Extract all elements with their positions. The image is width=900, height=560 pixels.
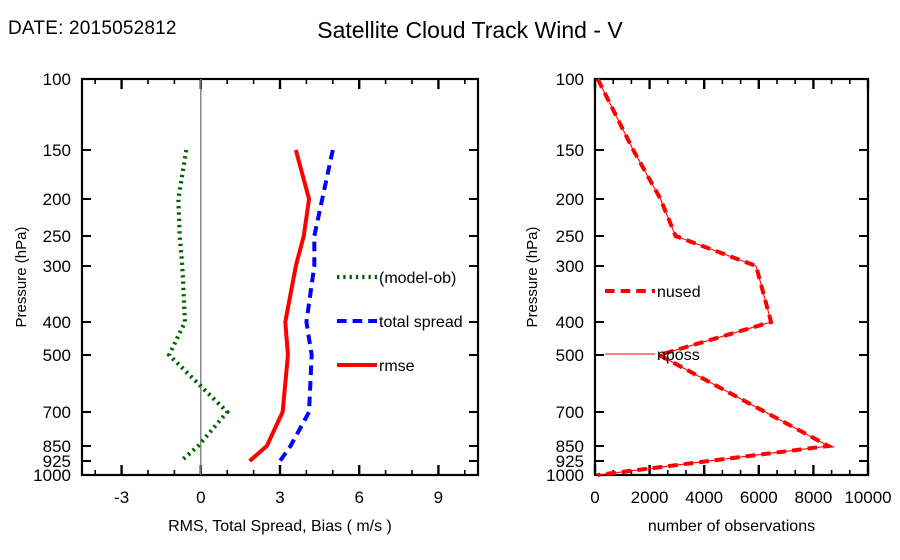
x-tick-label: 0 (196, 488, 205, 507)
y-tick-label: 300 (43, 257, 71, 276)
y-tick-label: 1000 (33, 466, 71, 485)
x-tick-label: -3 (114, 488, 129, 507)
x-tick-label: 10000 (844, 488, 891, 507)
x-tick-label: 0 (590, 488, 599, 507)
y-tick-label: 150 (556, 141, 584, 160)
legend-label: nposs (657, 347, 700, 364)
y-tick-label: 100 (556, 70, 584, 89)
legend-label: rmse (379, 358, 415, 375)
x-tick-label: 8000 (794, 488, 832, 507)
y-tick-label: 500 (556, 346, 584, 365)
legend-label: (model-ob) (379, 270, 456, 287)
chart-root: DATE: 2015052812 Satellite Cloud Track W… (0, 0, 900, 560)
y-tick-label: 250 (43, 227, 71, 246)
x-tick-label: 9 (434, 488, 443, 507)
left-panel: 1001502002503004005007008509251000-30369… (0, 0, 500, 560)
plot-frame (595, 79, 868, 475)
x-axis-title: number of observations (648, 518, 815, 535)
right-panel: 1001502002503004005007008509251000020004… (450, 0, 900, 560)
series-nposs (598, 79, 829, 475)
x-axis-title: RMS, Total Spread, Bias ( m/s ) (168, 518, 392, 535)
y-tick-label: 400 (556, 313, 584, 332)
y-axis-title: Pressure (hPa) (524, 227, 541, 328)
y-tick-label: 200 (43, 190, 71, 209)
y-tick-label: 200 (556, 190, 584, 209)
y-axis-title: Pressure (hPa) (13, 227, 30, 328)
y-tick-label: 700 (43, 403, 71, 422)
y-tick-label: 100 (43, 70, 71, 89)
legend-label: nused (657, 284, 701, 301)
y-tick-label: 300 (556, 257, 584, 276)
left-plot-svg: 1001502002503004005007008509251000-30369… (0, 0, 500, 560)
x-tick-label: 4000 (685, 488, 723, 507)
y-tick-label: 150 (43, 141, 71, 160)
series-rmse (250, 150, 309, 461)
series-nused (598, 79, 829, 475)
x-tick-label: 3 (275, 488, 284, 507)
x-tick-label: 6000 (740, 488, 778, 507)
series--model-ob- (169, 150, 227, 461)
y-tick-label: 400 (43, 313, 71, 332)
x-tick-label: 6 (354, 488, 363, 507)
x-tick-label: 2000 (631, 488, 669, 507)
y-tick-label: 1000 (546, 466, 584, 485)
y-tick-label: 700 (556, 403, 584, 422)
y-tick-label: 250 (556, 227, 584, 246)
right-plot-svg: 1001502002503004005007008509251000020004… (450, 0, 900, 560)
y-tick-label: 500 (43, 346, 71, 365)
